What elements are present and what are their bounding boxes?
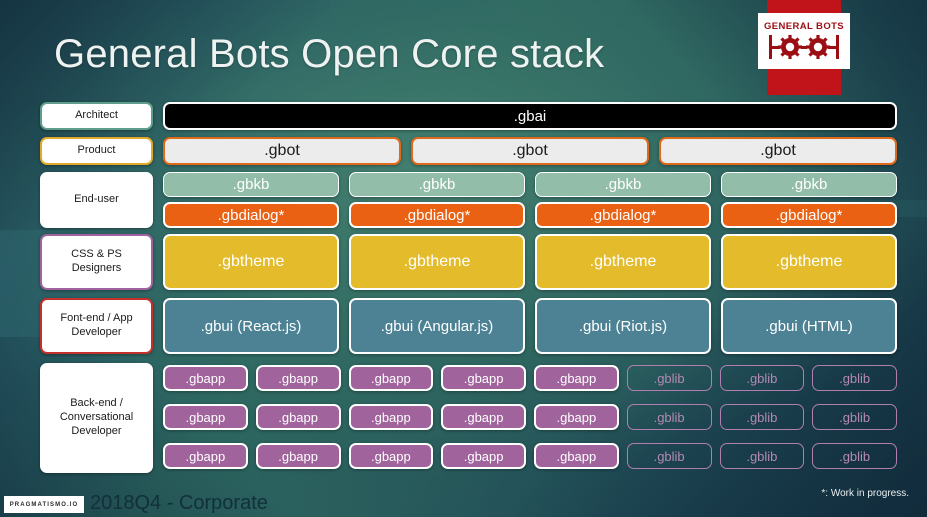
cell-gbui-0-label: .gbui (React.js) (201, 318, 302, 335)
role-label-2: End-user (40, 172, 153, 228)
role-label-3: CSS & PS Designers (40, 234, 153, 290)
cell-gbapp-r1-c2-label: .gbapp (371, 410, 411, 425)
pragmatismo-badge: PRAGMATISMO.IO (4, 496, 84, 513)
cell-gbkb-0-label: .gbkb (233, 176, 270, 193)
footer-text: 2018Q4 - Corporate (90, 492, 268, 515)
cell-gbapp-r0-c1-label: .gbapp (278, 371, 318, 386)
cell-gbapp-r2-c4-label: .gbapp (556, 449, 596, 464)
cell-gbapp-r0-c4-label: .gbapp (556, 371, 596, 386)
cell-gblib-r2-c1-label: .gblib (746, 449, 777, 464)
cell-gbkb-2-label: .gbkb (605, 176, 642, 193)
cell-gbapp-r0-c3: .gbapp (441, 365, 526, 391)
cell-gblib-r1-c1: .gblib (720, 404, 805, 430)
role-label-4-label: Font-end / App Developer (60, 312, 132, 340)
cell-gbapp-r0-c3-label: .gbapp (464, 371, 504, 386)
role-label-3-label: CSS & PS Designers (71, 248, 122, 276)
cell-gbui-2: .gbui (Riot.js) (535, 298, 711, 354)
cell-gbkb-3-label: .gbkb (791, 176, 828, 193)
cell-gbui-2-label: .gbui (Riot.js) (579, 318, 667, 335)
role-label-5-label: Back-end / Conversational Developer (60, 397, 133, 438)
cell-gbai: .gbai (163, 102, 897, 130)
cell-gbapp-r0-c0: .gbapp (163, 365, 248, 391)
cell-gbapp-r1-c1: .gbapp (256, 404, 341, 430)
cell-gbapp-r2-c3-label: .gbapp (464, 449, 504, 464)
role-label-0: Architect (40, 102, 153, 130)
cell-gbapp-r2-c2: .gbapp (349, 443, 434, 469)
cell-gblib-r2-c2-label: .gblib (839, 449, 870, 464)
cell-gbapp-r2-c1-label: .gbapp (278, 449, 318, 464)
cell-gbapp-r2-c0-label: .gbapp (185, 449, 225, 464)
cell-gblib-r1-c1-label: .gblib (746, 410, 777, 425)
role-label-1-label: Product (78, 144, 116, 158)
cell-gbtheme-0-label: .gbtheme (218, 253, 285, 271)
cell-gbapp-r2-c4: .gbapp (534, 443, 619, 469)
cell-gblib-r1-c0: .gblib (627, 404, 712, 430)
cell-gbapp-r1-c3: .gbapp (441, 404, 526, 430)
cell-gblib-r0-c1: .gblib (720, 365, 805, 391)
cell-gbdialog-0: .gbdialog* (163, 202, 339, 228)
cell-gbapp-r1-c0-label: .gbapp (185, 410, 225, 425)
cell-gbdialog-3: .gbdialog* (721, 202, 897, 228)
cell-gbot-0: .gbot (163, 137, 401, 165)
cell-gbapp-r1-c2: .gbapp (349, 404, 434, 430)
cell-gbapp-r0-c1: .gbapp (256, 365, 341, 391)
cell-gbtheme-2: .gbtheme (535, 234, 711, 290)
cell-gbkb-1-label: .gbkb (419, 176, 456, 193)
cell-gbot-0-label: .gbot (264, 142, 300, 160)
cell-gbkb-3: .gbkb (721, 172, 897, 197)
cell-gbapp-r0-c4: .gbapp (534, 365, 619, 391)
cell-gbot-2: .gbot (659, 137, 897, 165)
cell-gbapp-r0-c0-label: .gbapp (185, 371, 225, 386)
cell-gbkb-1: .gbkb (349, 172, 525, 197)
cell-gbapp-r2-c2-label: .gbapp (371, 449, 411, 464)
cell-gbapp-r1-c3-label: .gbapp (464, 410, 504, 425)
cell-gbapp-r2-c1: .gbapp (256, 443, 341, 469)
cell-gbtheme-2-label: .gbtheme (590, 253, 657, 271)
cell-gbot-1-label: .gbot (512, 142, 548, 160)
cell-gbtheme-1-label: .gbtheme (404, 253, 471, 271)
cell-gbapp-r1-c4: .gbapp (534, 404, 619, 430)
cell-gbapp-r2-c3: .gbapp (441, 443, 526, 469)
role-label-0-label: Architect (75, 109, 118, 123)
cell-gbapp-r1-c0: .gbapp (163, 404, 248, 430)
cell-gbot-1: .gbot (411, 137, 649, 165)
footnote-work-in-progress: *: Work in progress. (821, 488, 909, 499)
cell-gblib-r1-c2: .gblib (812, 404, 897, 430)
stack-diagram: ArchitectProductEnd-userCSS & PS Designe… (0, 0, 927, 517)
cell-gbtheme-3-label: .gbtheme (776, 253, 843, 271)
role-label-5: Back-end / Conversational Developer (40, 363, 153, 473)
cell-gbot-2-label: .gbot (760, 142, 796, 160)
cell-gbapp-r1-c1-label: .gbapp (278, 410, 318, 425)
cell-gblib-r2-c0: .gblib (627, 443, 712, 469)
cell-gblib-r0-c0-label: .gblib (654, 371, 685, 386)
slide-canvas: GENERAL BOTS (0, 0, 927, 517)
cell-gblib-r1-c0-label: .gblib (654, 410, 685, 425)
cell-gbdialog-0-label: .gbdialog* (218, 207, 285, 224)
cell-gblib-r2-c2: .gblib (812, 443, 897, 469)
role-label-2-label: End-user (74, 193, 119, 207)
cell-gbdialog-1: .gbdialog* (349, 202, 525, 228)
cell-gbdialog-1-label: .gbdialog* (404, 207, 471, 224)
cell-gbui-3: .gbui (HTML) (721, 298, 897, 354)
cell-gbdialog-3-label: .gbdialog* (776, 207, 843, 224)
cell-gbui-3-label: .gbui (HTML) (765, 318, 853, 335)
cell-gblib-r1-c2-label: .gblib (839, 410, 870, 425)
cell-gbapp-r2-c0: .gbapp (163, 443, 248, 469)
cell-gbkb-2: .gbkb (535, 172, 711, 197)
cell-gbdialog-2: .gbdialog* (535, 202, 711, 228)
role-label-1: Product (40, 137, 153, 165)
cell-gblib-r0-c1-label: .gblib (746, 371, 777, 386)
cell-gbui-0: .gbui (React.js) (163, 298, 339, 354)
cell-gblib-r0-c2: .gblib (812, 365, 897, 391)
cell-gbkb-0: .gbkb (163, 172, 339, 197)
cell-gblib-r2-c1: .gblib (720, 443, 805, 469)
cell-gbui-1-label: .gbui (Angular.js) (381, 318, 494, 335)
cell-gblib-r0-c0: .gblib (627, 365, 712, 391)
cell-gbtheme-1: .gbtheme (349, 234, 525, 290)
cell-gbtheme-3: .gbtheme (721, 234, 897, 290)
cell-gbapp-r0-c2: .gbapp (349, 365, 434, 391)
cell-gbui-1: .gbui (Angular.js) (349, 298, 525, 354)
cell-gbapp-r0-c2-label: .gbapp (371, 371, 411, 386)
role-label-4: Font-end / App Developer (40, 298, 153, 354)
cell-gbai-label: .gbai (514, 108, 547, 125)
cell-gblib-r2-c0-label: .gblib (654, 449, 685, 464)
cell-gbdialog-2-label: .gbdialog* (590, 207, 657, 224)
cell-gbapp-r1-c4-label: .gbapp (556, 410, 596, 425)
cell-gblib-r0-c2-label: .gblib (839, 371, 870, 386)
cell-gbtheme-0: .gbtheme (163, 234, 339, 290)
